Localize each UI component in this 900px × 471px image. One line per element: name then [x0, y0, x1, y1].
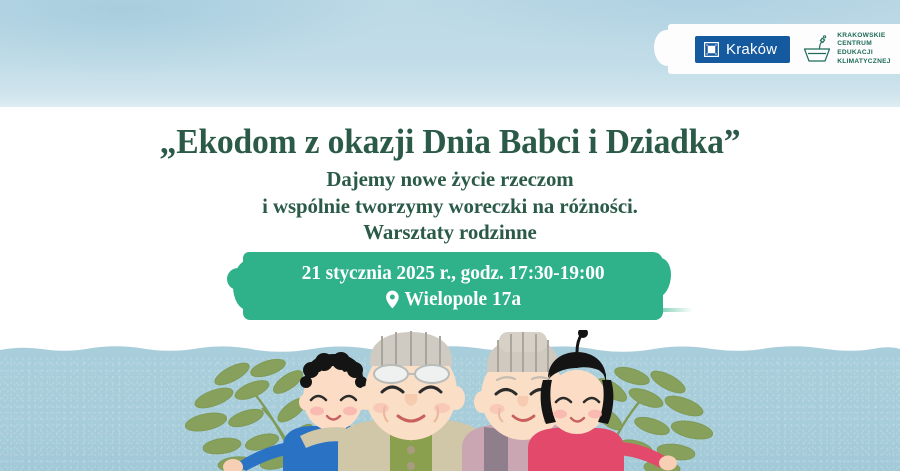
krakow-logo-label: Kraków: [726, 42, 777, 57]
family-illustration-svg: [0, 330, 900, 471]
event-datetime: 21 stycznia 2025 r., godz. 17:30-19:00: [302, 261, 605, 286]
banner-text-group: 21 stycznia 2025 r., godz. 17:30-19:00 W…: [243, 252, 663, 320]
kcek-basket-icon: [802, 34, 832, 64]
event-details-banner: 21 stycznia 2025 r., godz. 17:30-19:00 W…: [243, 252, 663, 320]
event-location-text: Wielopole 17a: [404, 287, 521, 312]
kcek-logo-text: KRAKOWSKIE CENTRUM EDUKACJI KLIMATYCZNEJ: [837, 32, 890, 67]
subtitle-line-1: Dajemy nowe życie rzeczom: [14, 166, 887, 193]
kcek-line-1: KRAKOWSKIE: [837, 32, 890, 41]
kcek-line-4: KLIMATYCZNEJ: [837, 58, 890, 67]
poster-title: „Ekodom z okazji Dnia Babci i Dziadka”: [18, 122, 882, 162]
kcek-line-2: CENTRUM: [837, 40, 890, 49]
kcek-line-3: EDUKACJI: [837, 49, 890, 58]
header-logos: Kraków KRAKOWSKIE CENTRUM EDUKACJI KLIMA…: [668, 24, 900, 74]
poster-canvas: Kraków KRAKOWSKIE CENTRUM EDUKACJI KLIMA…: [0, 0, 900, 471]
krakow-grid-icon: [704, 42, 719, 57]
sky-band-rough-edge: [0, 96, 900, 122]
krakow-logo[interactable]: Kraków: [695, 36, 790, 63]
poster-subtitle: Dajemy nowe życie rzeczom i wspólnie two…: [14, 166, 887, 246]
family-illustration: [0, 330, 900, 471]
event-location-row: Wielopole 17a: [385, 287, 521, 312]
kcek-logo[interactable]: KRAKOWSKIE CENTRUM EDUKACJI KLIMATYCZNEJ: [802, 32, 890, 67]
subtitle-line-2: i wspólnie tworzymy woreczki na różności…: [14, 193, 887, 220]
map-pin-icon: [385, 290, 400, 309]
subtitle-line-3: Warsztaty rodzinne: [14, 219, 887, 246]
